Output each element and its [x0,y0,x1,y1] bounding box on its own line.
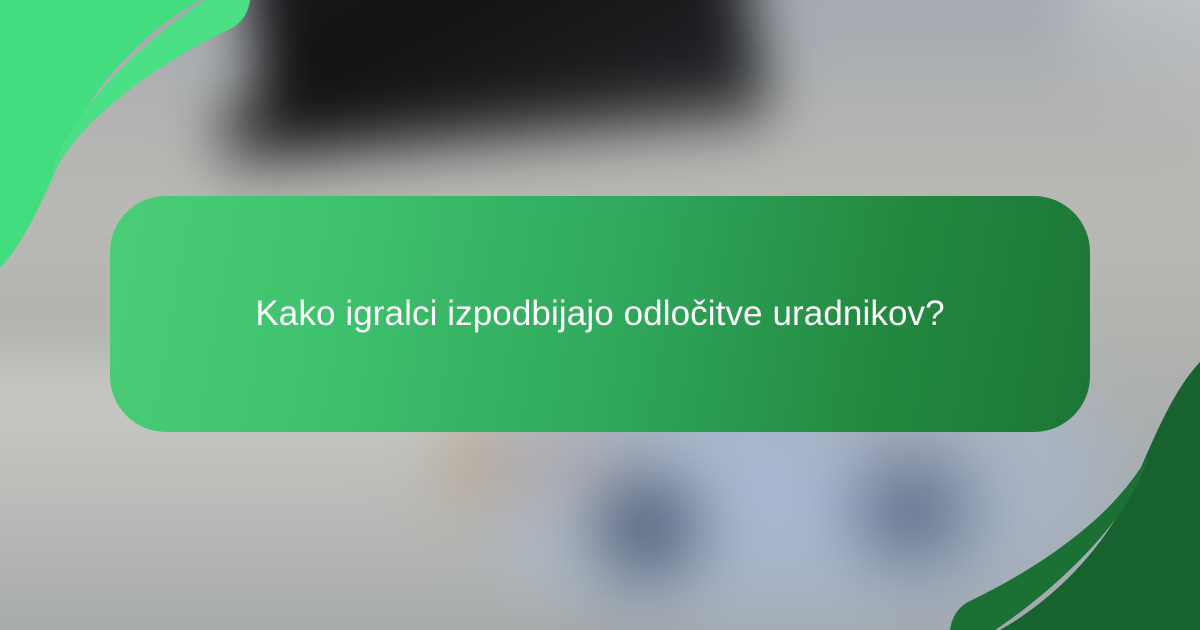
background-person-shadow-a [568,448,727,607]
page-title: Kako igralci izpodbijajo odločitve uradn… [255,292,944,336]
background-right-wall [1066,0,1200,214]
headline-card: Kako igralci izpodbijajo odločitve uradn… [110,196,1090,432]
screenshot-canvas: Kako igralci izpodbijajo odločitve uradn… [0,0,1200,630]
background-person-shadow-b [823,426,1003,596]
background-warm-highlight-a [28,0,187,55]
